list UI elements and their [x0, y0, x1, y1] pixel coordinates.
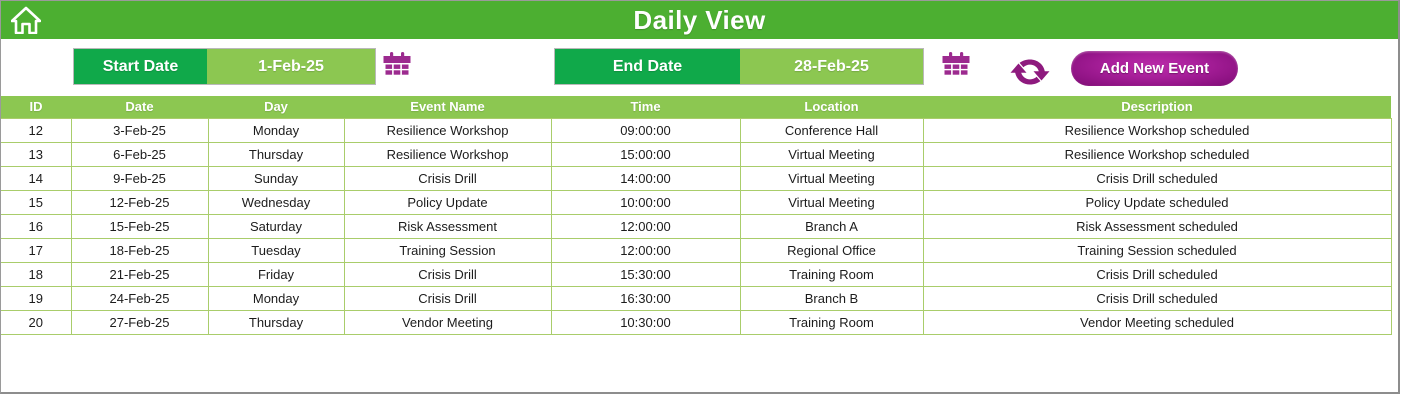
cell-location[interactable]: Training Room	[740, 263, 923, 287]
app-frame: Daily View Start Date 1-Feb-25	[0, 0, 1400, 394]
cell-time[interactable]: 10:30:00	[551, 311, 740, 335]
cell-event-name[interactable]: Crisis Drill	[344, 167, 551, 191]
cell-time[interactable]: 16:30:00	[551, 287, 740, 311]
end-date-label: End Date	[555, 49, 740, 84]
table-row[interactable]: 1615-Feb-25SaturdayRisk Assessment12:00:…	[1, 215, 1391, 239]
cell-day[interactable]: Wednesday	[208, 191, 344, 215]
refresh-icon[interactable]	[1008, 52, 1052, 92]
start-date-calendar-icon[interactable]	[381, 51, 413, 82]
cell-date[interactable]: 3-Feb-25	[71, 119, 208, 143]
cell-location[interactable]: Virtual Meeting	[740, 167, 923, 191]
cell-location[interactable]: Training Room	[740, 311, 923, 335]
cell-description[interactable]: Resilience Workshop scheduled	[923, 143, 1391, 167]
cell-description[interactable]: Risk Assessment scheduled	[923, 215, 1391, 239]
cell-time[interactable]: 10:00:00	[551, 191, 740, 215]
cell-day[interactable]: Saturday	[208, 215, 344, 239]
cell-event-name[interactable]: Risk Assessment	[344, 215, 551, 239]
cell-date[interactable]: 18-Feb-25	[71, 239, 208, 263]
cell-date[interactable]: 24-Feb-25	[71, 287, 208, 311]
cell-event-name[interactable]: Resilience Workshop	[344, 143, 551, 167]
cell-date[interactable]: 9-Feb-25	[71, 167, 208, 191]
cell-id[interactable]: 16	[1, 215, 71, 239]
column-header-time[interactable]: Time	[551, 96, 740, 119]
cell-description[interactable]: Policy Update scheduled	[923, 191, 1391, 215]
table-row[interactable]: 1924-Feb-25MondayCrisis Drill16:30:00Bra…	[1, 287, 1391, 311]
cell-location[interactable]: Regional Office	[740, 239, 923, 263]
cell-location[interactable]: Conference Hall	[740, 119, 923, 143]
cell-date[interactable]: 15-Feb-25	[71, 215, 208, 239]
cell-location[interactable]: Virtual Meeting	[740, 191, 923, 215]
page-title: Daily View	[633, 5, 765, 36]
column-header-location[interactable]: Location	[740, 96, 923, 119]
cell-time[interactable]: 14:00:00	[551, 167, 740, 191]
table-empty-area	[1, 335, 1391, 391]
cell-location[interactable]: Branch A	[740, 215, 923, 239]
table-header-row: ID Date Day Event Name Time Location Des…	[1, 96, 1391, 119]
end-date-value[interactable]: 28-Feb-25	[740, 49, 923, 84]
cell-description[interactable]: Resilience Workshop scheduled	[923, 119, 1391, 143]
column-header-id[interactable]: ID	[1, 96, 71, 119]
cell-day[interactable]: Tuesday	[208, 239, 344, 263]
cell-id[interactable]: 17	[1, 239, 71, 263]
cell-date[interactable]: 6-Feb-25	[71, 143, 208, 167]
column-header-description[interactable]: Description	[923, 96, 1391, 119]
cell-day[interactable]: Sunday	[208, 167, 344, 191]
cell-description[interactable]: Crisis Drill scheduled	[923, 287, 1391, 311]
cell-description[interactable]: Training Session scheduled	[923, 239, 1391, 263]
table-row[interactable]: 1821-Feb-25FridayCrisis Drill15:30:00Tra…	[1, 263, 1391, 287]
column-header-day[interactable]: Day	[208, 96, 344, 119]
table-body: 123-Feb-25MondayResilience Workshop09:00…	[1, 119, 1391, 335]
table-row[interactable]: 136-Feb-25ThursdayResilience Workshop15:…	[1, 143, 1391, 167]
cell-date[interactable]: 27-Feb-25	[71, 311, 208, 335]
events-table: ID Date Day Event Name Time Location Des…	[1, 96, 1392, 335]
table-row[interactable]: 149-Feb-25SundayCrisis Drill14:00:00Virt…	[1, 167, 1391, 191]
cell-id[interactable]: 19	[1, 287, 71, 311]
controls-bar: Start Date 1-Feb-25 End Date	[1, 39, 1398, 96]
start-date-label: Start Date	[74, 49, 207, 84]
cell-time[interactable]: 12:00:00	[551, 239, 740, 263]
cell-date[interactable]: 12-Feb-25	[71, 191, 208, 215]
table-row[interactable]: 123-Feb-25MondayResilience Workshop09:00…	[1, 119, 1391, 143]
start-date-value[interactable]: 1-Feb-25	[207, 49, 375, 84]
home-icon[interactable]	[9, 4, 42, 36]
table-row[interactable]: 2027-Feb-25ThursdayVendor Meeting10:30:0…	[1, 311, 1391, 335]
events-table-wrap: ID Date Day Event Name Time Location Des…	[1, 96, 1391, 391]
cell-id[interactable]: 14	[1, 167, 71, 191]
cell-id[interactable]: 12	[1, 119, 71, 143]
cell-description[interactable]: Crisis Drill scheduled	[923, 263, 1391, 287]
cell-day[interactable]: Thursday	[208, 311, 344, 335]
cell-id[interactable]: 15	[1, 191, 71, 215]
cell-time[interactable]: 15:00:00	[551, 143, 740, 167]
cell-event-name[interactable]: Training Session	[344, 239, 551, 263]
cell-day[interactable]: Monday	[208, 287, 344, 311]
cell-event-name[interactable]: Crisis Drill	[344, 263, 551, 287]
table-row[interactable]: 1718-Feb-25TuesdayTraining Session12:00:…	[1, 239, 1391, 263]
title-bar: Daily View	[1, 1, 1398, 39]
cell-event-name[interactable]: Policy Update	[344, 191, 551, 215]
cell-day[interactable]: Thursday	[208, 143, 344, 167]
table-row[interactable]: 1512-Feb-25WednesdayPolicy Update10:00:0…	[1, 191, 1391, 215]
column-header-date[interactable]: Date	[71, 96, 208, 119]
cell-date[interactable]: 21-Feb-25	[71, 263, 208, 287]
cell-day[interactable]: Monday	[208, 119, 344, 143]
cell-id[interactable]: 13	[1, 143, 71, 167]
cell-day[interactable]: Friday	[208, 263, 344, 287]
cell-id[interactable]: 18	[1, 263, 71, 287]
cell-location[interactable]: Branch B	[740, 287, 923, 311]
cell-description[interactable]: Crisis Drill scheduled	[923, 167, 1391, 191]
table-header: ID Date Day Event Name Time Location Des…	[1, 96, 1391, 119]
end-date-control[interactable]: End Date 28-Feb-25	[554, 48, 924, 85]
cell-event-name[interactable]: Crisis Drill	[344, 287, 551, 311]
cell-event-name[interactable]: Resilience Workshop	[344, 119, 551, 143]
cell-location[interactable]: Virtual Meeting	[740, 143, 923, 167]
column-header-event-name[interactable]: Event Name	[344, 96, 551, 119]
cell-time[interactable]: 09:00:00	[551, 119, 740, 143]
cell-time[interactable]: 15:30:00	[551, 263, 740, 287]
cell-event-name[interactable]: Vendor Meeting	[344, 311, 551, 335]
cell-description[interactable]: Vendor Meeting scheduled	[923, 311, 1391, 335]
end-date-calendar-icon[interactable]	[940, 51, 972, 82]
cell-id[interactable]: 20	[1, 311, 71, 335]
start-date-control[interactable]: Start Date 1-Feb-25	[73, 48, 376, 85]
add-new-event-button[interactable]: Add New Event	[1071, 51, 1238, 86]
cell-time[interactable]: 12:00:00	[551, 215, 740, 239]
